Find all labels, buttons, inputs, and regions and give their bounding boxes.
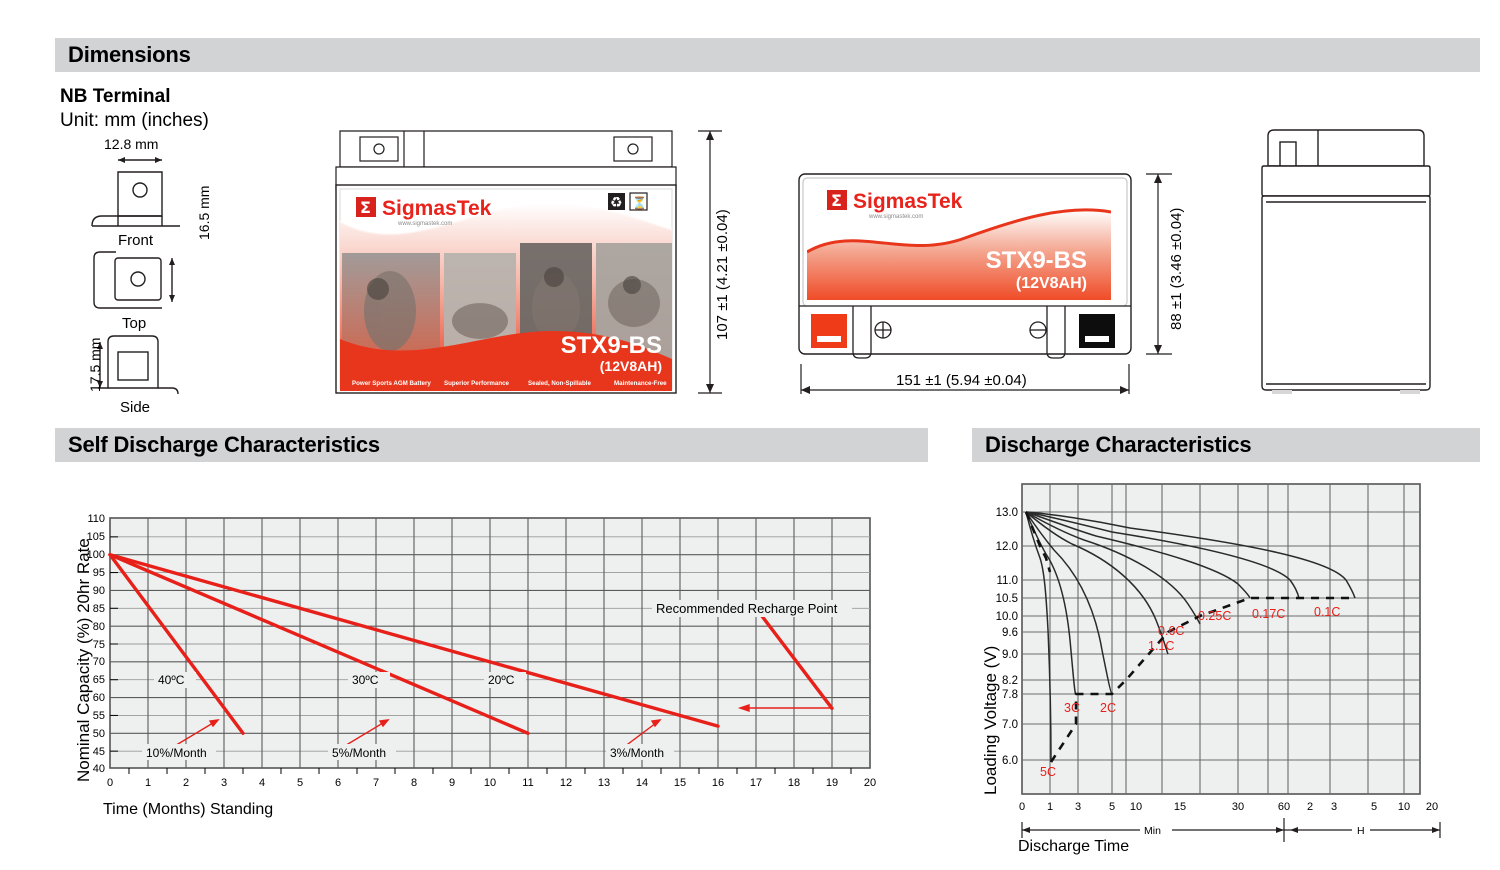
annot-40c: 40ºC: [158, 673, 185, 687]
xtick-h5: 5: [1371, 801, 1377, 813]
svg-text:10: 10: [484, 777, 496, 789]
xtick-60: 60: [1278, 801, 1290, 813]
section-header-self-discharge: Self Discharge Characteristics: [55, 428, 928, 462]
battery-length-dimension: 151 ±1 (5.94 ±0.04): [896, 372, 1027, 389]
terminal-depth-label: 16.5 mm: [196, 186, 212, 240]
svg-text:♻: ♻: [610, 195, 623, 211]
battery-spec-front: (12V8AH): [600, 358, 662, 374]
svg-text:15: 15: [674, 777, 686, 789]
svg-text:55: 55: [93, 710, 105, 722]
svg-text:40: 40: [93, 763, 105, 775]
svg-text:60: 60: [93, 692, 105, 704]
svg-text:12: 12: [560, 777, 572, 789]
svg-text:Σ: Σ: [831, 191, 842, 210]
svg-text:3: 3: [221, 777, 227, 789]
rate-label-017c: 0.17C: [1252, 607, 1285, 621]
feature-1: Superior Performance: [444, 380, 510, 387]
rate-label-025c: 0.25C: [1198, 609, 1231, 623]
svg-text:105: 105: [87, 531, 105, 543]
brand-logo-top: Σ: [827, 190, 847, 210]
rate-label-11c: 1.1C: [1148, 639, 1174, 653]
svg-text:0: 0: [107, 777, 113, 789]
svg-text:20: 20: [864, 777, 876, 789]
ytick-11: 11.0: [996, 575, 1018, 587]
terminal-positive-block: [811, 314, 847, 348]
svg-text:18: 18: [788, 777, 800, 789]
brand-name: SigmasTek: [382, 197, 492, 220]
svg-text:14: 14: [636, 777, 648, 789]
svg-text:85: 85: [93, 603, 105, 615]
brand-website: www.sigmastek.com: [397, 221, 452, 227]
brand-website-top: www.sigmastek.com: [868, 214, 923, 220]
rate-label-3c: 3C: [1064, 701, 1080, 715]
ytick-105: 10.5: [996, 593, 1018, 605]
svg-text:2: 2: [183, 777, 189, 789]
rate-label-01c: 0.1C: [1314, 605, 1340, 619]
xtick-1: 1: [1047, 801, 1053, 813]
svg-text:90: 90: [93, 585, 105, 597]
ytick-82: 8.2: [1002, 675, 1018, 687]
discharge-y-axis-label: Loading Voltage (V): [981, 646, 1001, 795]
terminal-title: NB Terminal: [60, 86, 171, 108]
feature-0: Power Sports AGM Battery: [352, 380, 431, 387]
annot-recharge-point: Recommended Recharge Point: [656, 601, 838, 616]
svg-text:Σ: Σ: [360, 198, 371, 217]
battery-front-view: Σ SigmasTek www.sigmastek.com ♻ ⏳ STX9-B…: [332, 125, 680, 397]
svg-text:11: 11: [522, 777, 533, 789]
xtick-5: 5: [1109, 801, 1115, 813]
rate-label-2c: 2C: [1100, 701, 1116, 715]
svg-text:110: 110: [87, 513, 105, 525]
section-title-self-discharge: Self Discharge Characteristics: [55, 432, 380, 458]
rate-label-06c: 0.6C: [1158, 624, 1184, 638]
svg-text:50: 50: [93, 728, 105, 740]
svg-text:7: 7: [373, 777, 379, 789]
svg-text:17: 17: [750, 777, 762, 789]
battery-case-height-dimension: 88 ±1 (3.46 ±0.04): [1168, 208, 1185, 330]
ytick-7: 7.0: [1002, 719, 1018, 731]
section-title-dimensions: Dimensions: [55, 42, 191, 68]
brand-logo: Σ: [356, 197, 376, 217]
ytick-12: 12.0: [996, 541, 1018, 553]
svg-text:65: 65: [93, 674, 105, 686]
axis-group-min: Min: [1144, 825, 1161, 837]
xtick-3: 3: [1075, 801, 1081, 813]
brand-name-top: SigmasTek: [853, 190, 963, 213]
annot-30c: 30ºC: [352, 673, 379, 687]
ytick-9: 9.0: [1002, 649, 1018, 661]
section-header-discharge: Discharge Characteristics: [972, 428, 1480, 462]
ytick-6: 6.0: [1002, 755, 1018, 767]
terminal-view-front-label: Front: [118, 232, 154, 249]
annot-rate-10: 10%/Month: [146, 746, 207, 760]
ytick-10: 10.0: [996, 611, 1018, 623]
terminal-height-label: 17.5 mm: [87, 338, 103, 392]
xtick-30: 30: [1232, 801, 1244, 813]
svg-text:9: 9: [449, 777, 455, 789]
svg-text:75: 75: [93, 639, 105, 651]
terminal-negative-block: [1079, 314, 1115, 348]
svg-text:19: 19: [826, 777, 838, 789]
battery-spec-top: (12V8AH): [1016, 275, 1087, 292]
battery-model-top: STX9-BS: [986, 247, 1087, 274]
annot-rate-5: 5%/Month: [332, 746, 386, 760]
annot-20c: 20ºC: [488, 673, 515, 687]
feature-2: Sealed, Non-Spillable: [528, 380, 591, 387]
terminal-view-side-label: Side: [120, 399, 150, 416]
svg-text:100: 100: [87, 549, 105, 561]
recycle-icon: ♻: [608, 193, 625, 211]
section-title-discharge: Discharge Characteristics: [972, 432, 1251, 458]
battery-top-view: Σ SigmasTek www.sigmastek.com STX9-BS (1…: [795, 168, 1135, 360]
battery-side-view: [1246, 126, 1446, 398]
battery-model-front: STX9-BS: [561, 332, 662, 359]
annot-rate-3: 3%/Month: [610, 746, 664, 760]
xtick-h2: 2: [1307, 801, 1313, 813]
xtick-h3: 3: [1331, 801, 1337, 813]
wheelie-bin-crossed-icon: ⏳: [630, 193, 647, 210]
xtick-h10: 10: [1398, 801, 1410, 813]
terminal-unit: Unit: mm (inches): [60, 110, 209, 132]
svg-text:80: 80: [93, 621, 105, 633]
svg-text:8: 8: [411, 777, 417, 789]
ytick-96: 9.6: [1002, 627, 1018, 639]
ytick-13: 13.0: [996, 507, 1018, 519]
axis-group-hour: H: [1357, 825, 1365, 837]
polarity-positive-icon: [875, 322, 891, 338]
svg-text:45: 45: [93, 746, 105, 758]
xtick-h20: 20: [1426, 801, 1438, 813]
xtick-15: 15: [1174, 801, 1186, 813]
self-discharge-chart: 110 105 100 95 90 85 80 75 70 65 60 55 5…: [80, 512, 890, 792]
svg-text:6: 6: [335, 777, 341, 789]
terminal-view-top-label: Top: [122, 315, 146, 332]
xtick-10: 10: [1130, 801, 1142, 813]
discharge-x-axis-label: Discharge Time: [1018, 838, 1129, 856]
svg-text:5: 5: [297, 777, 303, 789]
feature-3: Maintenance-Free: [614, 380, 667, 387]
ytick-78: 7.8: [1002, 689, 1018, 701]
battery-height-dimension: 107 ±1 (4.21 ±0.04): [714, 209, 731, 340]
discharge-chart: 13.0 12.0 11.0 10.5 10.0 9.6 9.0 8.2 7.8…: [1000, 480, 1440, 810]
svg-text:70: 70: [93, 656, 105, 668]
svg-text:13: 13: [598, 777, 610, 789]
svg-text:16: 16: [712, 777, 724, 789]
xtick-0: 0: [1019, 801, 1025, 813]
section-header-dimensions: Dimensions: [55, 38, 1480, 72]
self-discharge-x-axis-label: Time (Months) Standing: [103, 801, 273, 819]
svg-text:⏳: ⏳: [632, 196, 647, 210]
svg-text:4: 4: [259, 777, 265, 789]
rate-label-5c: 5C: [1040, 765, 1056, 779]
svg-text:95: 95: [93, 567, 105, 579]
svg-text:1: 1: [145, 777, 151, 789]
